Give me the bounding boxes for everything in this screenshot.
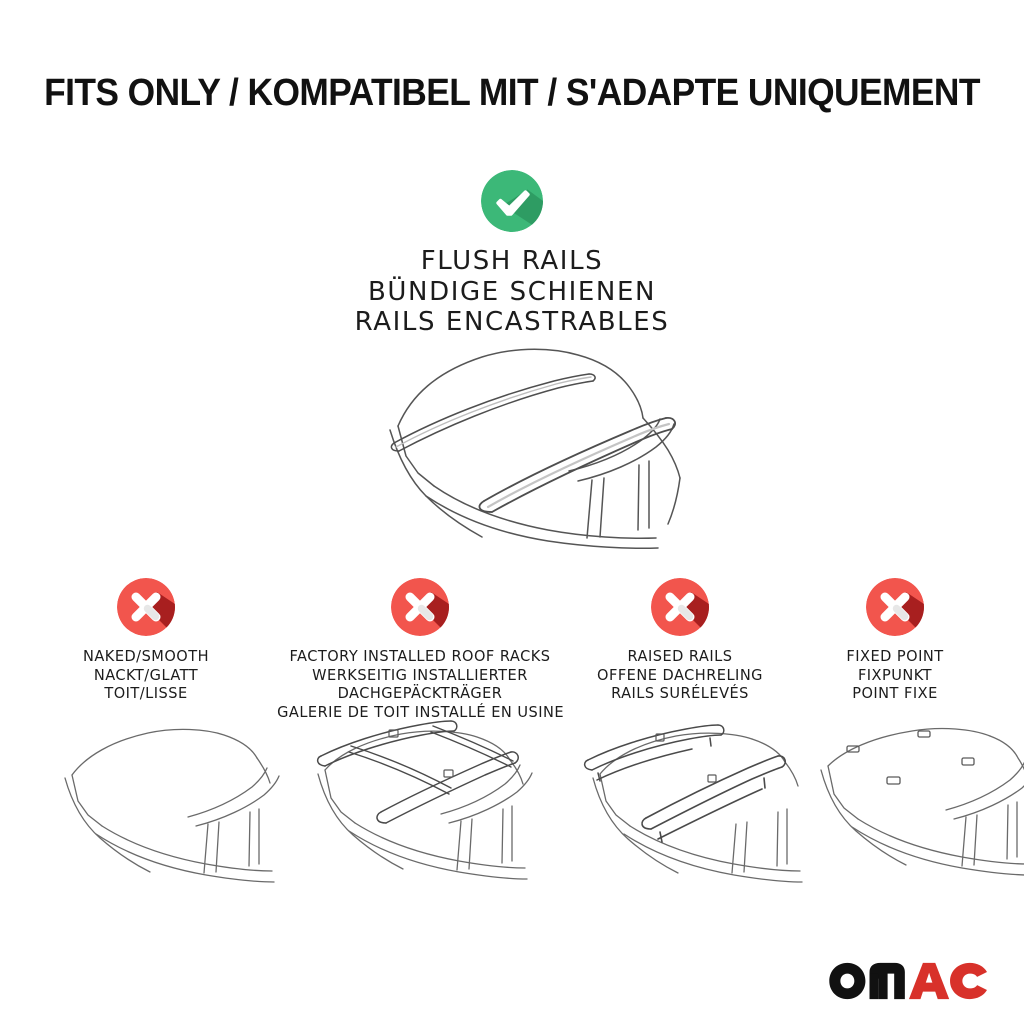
label-line: TOIT/LISSE (23, 684, 269, 703)
incompatible-label-1: NAKED/SMOOTH NACKT/GLATT TOIT/LISSE (15, 647, 277, 703)
incompatible-label-4: FIXED POINT FIXPUNKT POINT FIXE (790, 647, 1000, 703)
cross-circle-icon (117, 578, 175, 636)
label-line: POINT FIXE (796, 684, 993, 703)
incompatible-badge-wrap-1 (15, 578, 277, 636)
label-line: RAISED RAILS (563, 647, 798, 666)
label-line: RAILS SURÉLEVÉS (563, 684, 798, 703)
label-line: FIXPUNKT (796, 666, 993, 685)
compatible-badge-wrap (0, 170, 1024, 232)
omac-logo (826, 958, 990, 1004)
incompatible-section: NAKED/SMOOTH NACKT/GLATT TOIT/LISSE (0, 578, 1024, 918)
page-title: FITS ONLY / KOMPATIBEL MIT / S'ADAPTE UN… (36, 72, 988, 115)
compatible-label-line-1: FLUSH RAILS (0, 246, 1024, 277)
car-roof-bare-illustration (10, 718, 282, 898)
compatible-label-line-3: RAILS ENCASTRABLES (0, 307, 1024, 338)
car-roof-raised-rails-illustration (550, 718, 818, 898)
incompatible-badge-wrap-4 (790, 578, 1000, 636)
label-line: NAKED/SMOOTH (23, 647, 269, 666)
label-line: FIXED POINT (796, 647, 993, 666)
label-line: FACTORY INSTALLED ROOF RACKS (277, 647, 563, 666)
compatible-label-line-2: BÜNDIGE SCHIENEN (0, 277, 1024, 308)
cross-circle-icon (391, 578, 449, 636)
cross-circle-icon (866, 578, 924, 636)
incompatible-item-naked-smooth: NAKED/SMOOTH NACKT/GLATT TOIT/LISSE (15, 578, 277, 703)
label-line: WERKSEITIG INSTALLIERTER (277, 666, 563, 685)
car-roof-fixed-point-illustration (800, 718, 1024, 898)
incompatible-item-factory-roof-racks: FACTORY INSTALLED ROOF RACKS WERKSEITIG … (268, 578, 572, 721)
label-line: NACKT/GLATT (23, 666, 269, 685)
incompatible-item-fixed-point: FIXED POINT FIXPUNKT POINT FIXE (790, 578, 1000, 703)
incompatible-label-3: RAISED RAILS OFFENE DACHRELING RAILS SUR… (555, 647, 805, 703)
label-line: OFFENE DACHRELING (563, 666, 798, 685)
car-roof-with-crossbars-illustration (273, 718, 563, 898)
incompatible-badge-wrap-3 (555, 578, 805, 636)
check-circle-icon (481, 170, 543, 232)
cross-circle-icon (651, 578, 709, 636)
label-line: DACHGEPÄCKTRÄGER (277, 684, 563, 703)
compatible-section: FLUSH RAILS BÜNDIGE SCHIENEN RAILS ENCAS… (0, 170, 1024, 338)
incompatible-badge-wrap-2 (268, 578, 572, 636)
car-roof-with-flush-rails-illustration (286, 338, 746, 553)
incompatible-item-raised-rails: RAISED RAILS OFFENE DACHRELING RAILS SUR… (555, 578, 805, 703)
compatible-label: FLUSH RAILS BÜNDIGE SCHIENEN RAILS ENCAS… (0, 246, 1024, 338)
incompatible-label-2: FACTORY INSTALLED ROOF RACKS WERKSEITIG … (268, 647, 572, 721)
